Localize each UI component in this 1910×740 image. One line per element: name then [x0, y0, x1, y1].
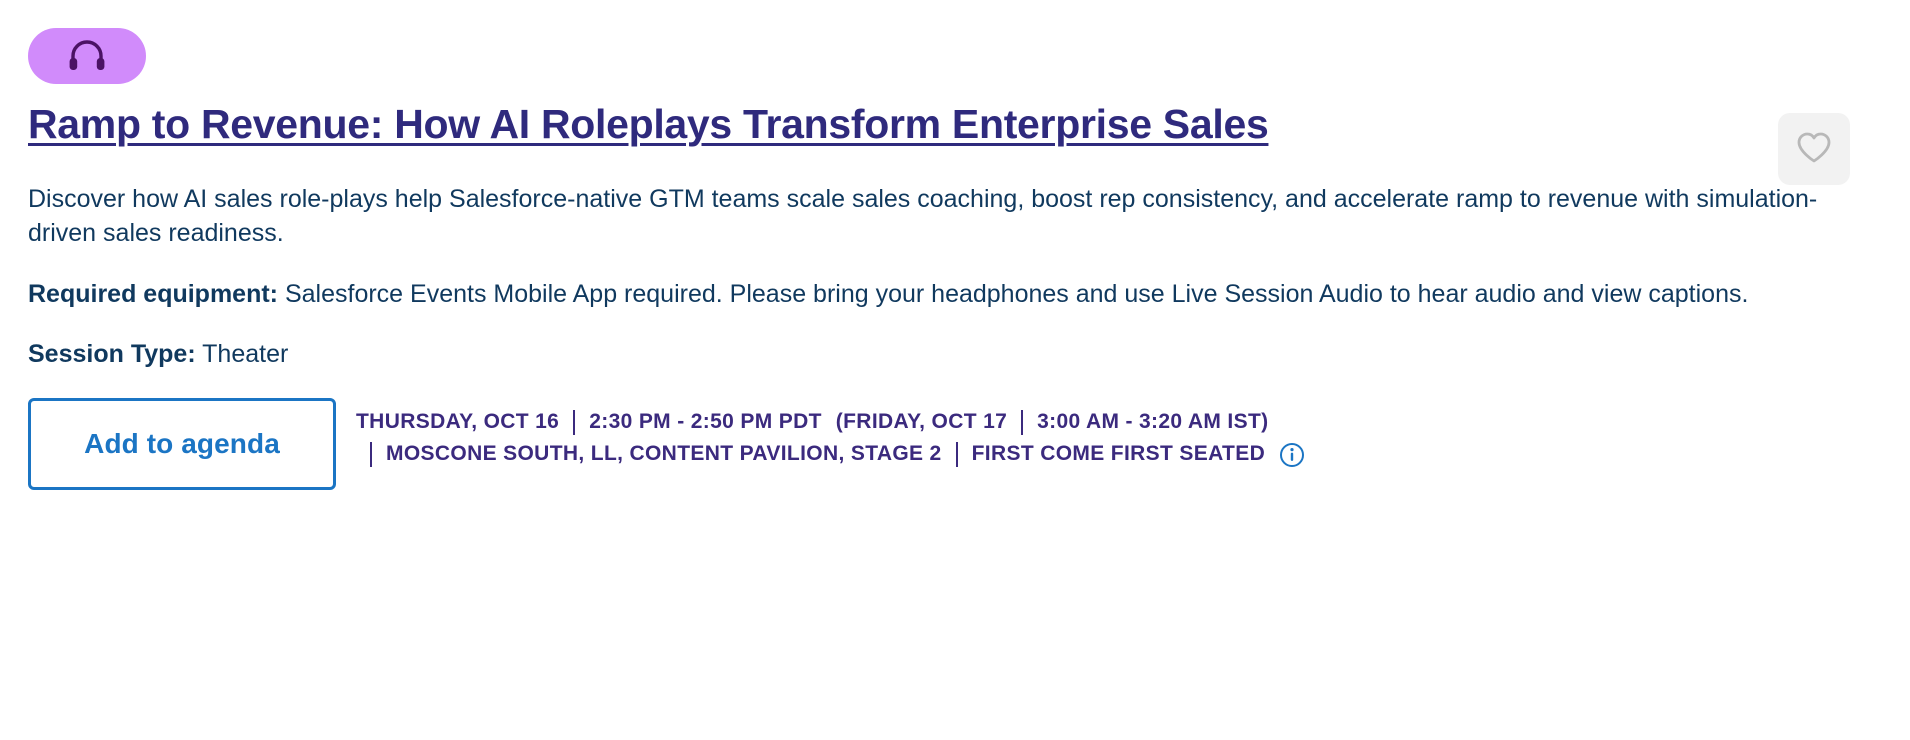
info-circle-icon[interactable]: [1279, 442, 1305, 468]
meta-divider: [573, 410, 575, 435]
session-day: THURSDAY, OCT 16: [356, 406, 559, 439]
session-location: MOSCONE SOUTH, LL, CONTENT PAVILION, STA…: [386, 438, 942, 471]
session-datetime-line: THURSDAY, OCT 16 2:30 PM - 2:50 PM PDT (…: [356, 406, 1305, 439]
title-row: Ramp to Revenue: How AI Roleplays Transf…: [28, 102, 1880, 148]
meta-divider: [956, 442, 958, 467]
session-location-line: MOSCONE SOUTH, LL, CONTENT PAVILION, STA…: [356, 438, 1305, 471]
required-equipment-paragraph: Required equipment: Salesforce Events Mo…: [28, 277, 1818, 312]
headphones-icon: [68, 39, 106, 73]
favorite-button[interactable]: [1778, 113, 1850, 185]
required-equipment-label: Required equipment:: [28, 280, 278, 308]
session-seating: FIRST COME FIRST SEATED: [972, 438, 1266, 471]
session-type-value: Theater: [202, 340, 288, 368]
session-format-badge: [28, 28, 146, 84]
heart-icon: [1796, 131, 1832, 167]
session-title-link[interactable]: Ramp to Revenue: How AI Roleplays Transf…: [28, 101, 1268, 147]
add-to-agenda-button[interactable]: Add to agenda: [28, 398, 336, 490]
session-type-label: Session Type:: [28, 340, 196, 368]
meta-divider: [370, 442, 372, 467]
session-alt-time: 3:00 AM - 3:20 AM IST): [1037, 406, 1268, 439]
required-equipment-text: Salesforce Events Mobile App required. P…: [285, 280, 1748, 308]
session-time-local: 2:30 PM - 2:50 PM PDT: [589, 406, 822, 439]
session-description: Discover how AI sales role-plays help Sa…: [28, 182, 1818, 251]
meta-divider: [1021, 410, 1023, 435]
session-type-paragraph: Session Type: Theater: [28, 337, 1818, 372]
session-footer: Add to agenda THURSDAY, OCT 16 2:30 PM -…: [28, 398, 1880, 490]
session-alt-day: (FRIDAY, OCT 17: [836, 406, 1007, 439]
session-meta: THURSDAY, OCT 16 2:30 PM - 2:50 PM PDT (…: [356, 398, 1305, 471]
session-card: Ramp to Revenue: How AI Roleplays Transf…: [0, 0, 1910, 740]
